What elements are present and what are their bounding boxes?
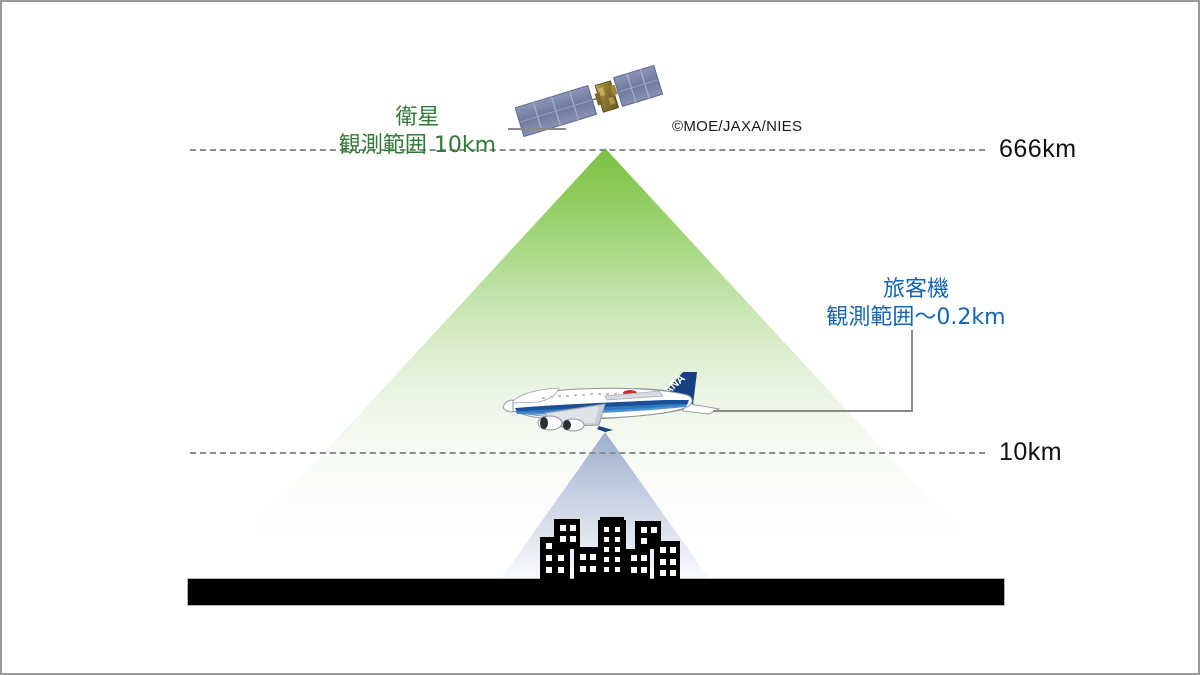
satellite-leader-line bbox=[508, 128, 566, 130]
aircraft-leader-line bbox=[713, 330, 913, 412]
diagram-canvas: ANA bbox=[0, 0, 1200, 675]
airliner-icon: ANA bbox=[487, 369, 722, 447]
satellite-icon bbox=[515, 62, 665, 144]
satellite-label: 衛星 観測範囲 10km bbox=[330, 104, 505, 159]
satellite-altitude-line bbox=[190, 149, 985, 151]
aircraft-label-line2: 観測範囲〜0.2km bbox=[800, 304, 1032, 332]
aircraft-label: 旅客機 観測範囲〜0.2km bbox=[800, 276, 1032, 331]
city-skyline-icon bbox=[540, 509, 680, 581]
satellite-label-line2: 観測範囲 10km bbox=[330, 132, 505, 160]
aircraft-altitude-label: 10km bbox=[999, 438, 1062, 467]
aircraft-label-line1: 旅客機 bbox=[800, 276, 1032, 304]
aircraft-altitude-line bbox=[190, 452, 985, 454]
copyright-notice: ©MOE/JAXA/NIES bbox=[672, 118, 802, 135]
satellite-label-line1: 衛星 bbox=[330, 104, 505, 132]
satellite-altitude-label: 666km bbox=[999, 135, 1077, 164]
ground-bar bbox=[187, 578, 1005, 606]
